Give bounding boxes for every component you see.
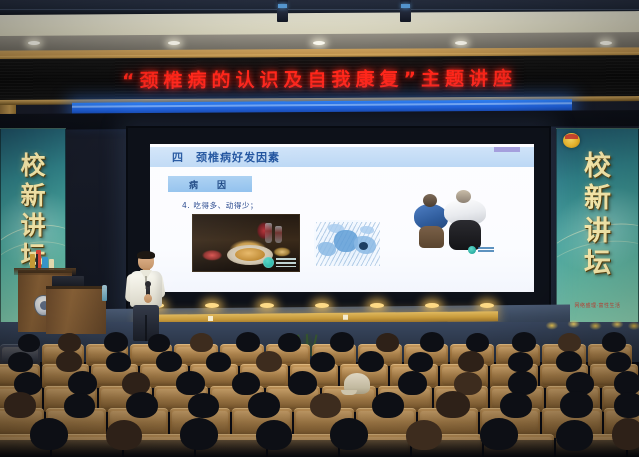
audience-head (148, 334, 170, 352)
audience-head (176, 371, 205, 395)
banner-right: 校 新 讲 坛 网络盛理·富性生活 (556, 128, 639, 324)
photo-watermark (468, 246, 494, 254)
audience-head (278, 333, 301, 352)
audience-head (480, 418, 518, 450)
audience-head (512, 332, 536, 352)
audience-head (64, 393, 95, 418)
audience-head (500, 392, 532, 418)
audience-head (420, 332, 444, 352)
banner-char: 讲 (584, 217, 611, 246)
speaker-hand (144, 294, 152, 303)
audience-head (330, 332, 354, 352)
audience-head (358, 351, 384, 372)
speaker-person (124, 252, 168, 340)
stage-footlight-icon (260, 303, 274, 308)
audience-head (376, 333, 399, 352)
blue-lineart-illustration (314, 220, 380, 266)
overweight-people-photo (408, 184, 494, 262)
stage-footlight-icon (425, 303, 439, 308)
speaker-hair (137, 251, 155, 259)
audience-head (560, 391, 593, 418)
audience-head (558, 333, 581, 352)
audience-head (466, 333, 489, 352)
person-blue-shirt (414, 194, 448, 246)
audience-head (156, 351, 182, 372)
audience-head (232, 372, 260, 395)
audience-head (288, 371, 317, 395)
audience-head (68, 371, 97, 395)
auditorium-scene: “颈椎病的认识及自我康复”主题讲座 校 新 讲 坛 校 新 讲 坛 网络盛理·富… (0, 0, 639, 457)
audience-head-with-cap (344, 373, 370, 394)
banner-char: 校 (20, 152, 45, 179)
audience-head (606, 352, 631, 372)
audience-head (206, 352, 231, 372)
projection-screen: 四 颈椎病好发因素 病 因 4. 吃得多、动得少； (126, 126, 551, 314)
audience-head (330, 418, 368, 450)
rail-marker (208, 316, 213, 321)
ceiling-spotlight-icon (400, 0, 411, 22)
audience-head (310, 352, 335, 372)
audience-head (104, 332, 128, 352)
person-head (456, 190, 471, 203)
banner-char: 坛 (584, 249, 611, 278)
photo-watermark (263, 257, 296, 268)
person-white-shirt (444, 190, 486, 250)
led-banner-text: “颈椎病的认识及自我康复”主题讲座 (122, 63, 517, 92)
audience-head (18, 334, 40, 352)
ceiling-downlight-icon (600, 41, 612, 45)
audience-head (256, 351, 282, 372)
audience-head (408, 352, 433, 372)
side-table (46, 286, 106, 334)
watermark-logo-icon (468, 246, 476, 254)
audience-head (436, 391, 470, 418)
slide-section-label: 病 因 (189, 178, 231, 191)
lineart-accent-dot (359, 242, 368, 250)
audience-head (56, 351, 82, 372)
audience-head (310, 393, 341, 418)
led-scrolling-banner: “颈椎病的认识及自我康复”主题讲座 (0, 55, 639, 101)
watermark-text-blur (276, 258, 296, 267)
banner-char: 校 (584, 152, 611, 181)
person-head (423, 194, 437, 207)
audience-head (372, 392, 404, 418)
slide-title: 四 颈椎病好发因素 (150, 149, 280, 165)
watermark-text-blur (478, 247, 494, 253)
audience-head (612, 418, 639, 450)
wine-glass-icon (275, 226, 282, 243)
food-banquet-photo (192, 214, 300, 272)
person-legs (419, 226, 444, 248)
lineart-shape (360, 226, 374, 234)
watermark-logo-icon (263, 257, 274, 268)
audience-head (188, 393, 219, 418)
audience-head (406, 420, 442, 450)
stage-footlight-icon (205, 303, 219, 308)
stage-footlight-icon (315, 303, 329, 308)
audience-head (8, 352, 33, 372)
audience-head (508, 352, 533, 372)
foreground-shadow (0, 440, 639, 457)
banner-char: 新 (584, 184, 611, 213)
stage-footlight-icon (370, 303, 384, 308)
banner-char: 新 (20, 182, 45, 209)
banner-char: 讲 (20, 212, 45, 239)
audience-head (58, 333, 81, 352)
water-bottle (102, 285, 107, 301)
audience-head (236, 332, 260, 352)
ceiling-spotlight-icon (277, 0, 288, 22)
ceiling-downlight-icon (455, 41, 467, 45)
audience-head (256, 420, 292, 450)
wine-glass-icon (265, 223, 272, 243)
audience-head (248, 392, 280, 418)
banner-right-text: 校 新 讲 坛 (557, 152, 638, 278)
stage-footlight-icon (480, 303, 494, 308)
audience-head (614, 392, 639, 418)
ceiling-downlight-icon (168, 41, 180, 45)
ceiling-downlight-icon (313, 41, 325, 45)
school-emblem-icon (563, 133, 580, 148)
audience-head (602, 332, 626, 352)
audience-head (458, 351, 484, 372)
audience-head (4, 392, 36, 418)
audience-head (126, 392, 158, 418)
audience-head (106, 352, 131, 372)
ceiling-downlight-icon (28, 41, 40, 45)
slide-bullet-text: 4. 吃得多、动得少； (182, 200, 258, 211)
audience-head (106, 420, 142, 450)
audience-head (30, 418, 68, 450)
audience-head (398, 371, 427, 395)
presentation-slide: 四 颈椎病好发因素 病 因 4. 吃得多、动得少； (150, 144, 534, 292)
slide-corner-badge (494, 147, 520, 152)
audience-head (556, 351, 582, 372)
audience-head (556, 420, 593, 451)
stage-flower-arrangement (540, 316, 639, 332)
slide-section-box: 病 因 (168, 176, 252, 192)
slide-title-bar: 四 颈椎病好发因素 (150, 147, 534, 167)
audience-head (190, 333, 213, 352)
audience-head (180, 418, 218, 450)
rail-marker (343, 315, 348, 320)
